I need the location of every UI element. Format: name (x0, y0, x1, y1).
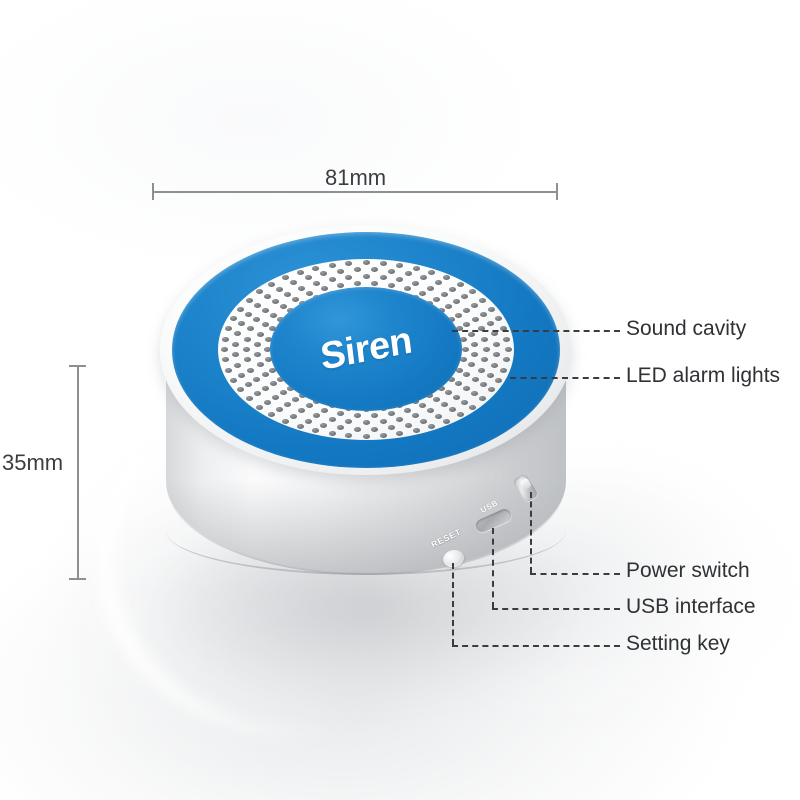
perforation-dot (320, 271, 327, 276)
perforation-dot (290, 280, 297, 285)
perforation-dot (491, 363, 498, 368)
perforation-dot (276, 407, 283, 412)
perforation-dot (245, 382, 252, 387)
perforation-dot (329, 263, 336, 268)
callout-label-sound-cavity: Sound cavity (626, 317, 746, 341)
dimension-label-width: 81mm (325, 165, 386, 191)
perforation-dot (371, 413, 378, 418)
perforation-dot (234, 363, 241, 368)
perforation-dot (396, 417, 403, 422)
perforation-dot (268, 412, 275, 417)
perforation-dot (244, 357, 251, 362)
perforation-dot (247, 326, 254, 331)
perforation-dot (329, 277, 336, 282)
perforation-dot (488, 387, 495, 392)
perforation-dot (371, 427, 378, 432)
perforation-dot (306, 403, 313, 408)
perforation-dot (270, 381, 277, 386)
perforation-dot (388, 411, 395, 416)
perforation-dot (305, 275, 312, 280)
callout-label-led-alarm-lights: LED alarm lights (626, 364, 780, 388)
perforation-dot (420, 419, 427, 424)
perforation-dot (479, 396, 486, 401)
perforation-dot (480, 312, 487, 317)
perforation-dot (404, 408, 411, 413)
perforation-dot (419, 291, 426, 296)
perforation-dot (230, 316, 237, 321)
perforation-dot (345, 275, 352, 280)
perforation-dot (312, 428, 319, 433)
perforation-dot (313, 281, 320, 286)
perforation-dot (428, 270, 435, 275)
perforation-dot (461, 294, 468, 299)
perforation-dot (337, 283, 344, 288)
leader-line-led-alarm-lights (510, 377, 620, 379)
perforation-dot (469, 289, 476, 294)
perforation-dot (449, 407, 456, 412)
perforation-dot (354, 413, 361, 418)
perforation-dot (460, 357, 467, 362)
perforation-dot (345, 419, 352, 424)
perforation-dot (238, 373, 245, 378)
perforation-dot (305, 419, 312, 424)
device-bottom-rim (166, 487, 566, 575)
perforation-dot (234, 331, 241, 336)
perforation-dot (262, 308, 269, 313)
perforation-dot (243, 347, 250, 352)
perforation-dot (268, 282, 275, 287)
perforation-dot (435, 280, 442, 285)
perforation-dot (483, 347, 490, 352)
perforation-dot (246, 396, 253, 401)
perforation-dot (371, 281, 378, 286)
perforation-dot (472, 317, 479, 322)
perforation-dot (457, 412, 464, 417)
perforation-dot (412, 413, 419, 418)
perforation-dot (312, 266, 319, 271)
dimension-line-width (152, 191, 558, 193)
perforation-dot (435, 414, 442, 419)
perforation-dot (371, 267, 378, 272)
perforation-dot (449, 287, 456, 292)
perforation-dot (298, 408, 305, 413)
perforation-dot (237, 387, 244, 392)
perforation-dot (405, 423, 412, 428)
perforation-dot (380, 275, 387, 280)
perforation-dot (354, 281, 361, 286)
dimension-line-height (77, 365, 79, 580)
perforation-dot (405, 271, 412, 276)
perforation-dot (388, 283, 395, 288)
perforation-dot (481, 357, 488, 362)
perforation-dot (253, 377, 260, 382)
perforation-dot (441, 402, 448, 407)
leader-line-setting-key-horizontal (452, 645, 620, 647)
perforation-dot (493, 342, 500, 347)
perforation-dot (488, 307, 495, 312)
perforation-dot (237, 307, 244, 312)
perforation-dot (292, 397, 299, 402)
perforation-dot (264, 400, 271, 405)
perforation-dot (463, 372, 470, 377)
perforation-dot (419, 403, 426, 408)
perforation-dot (487, 373, 494, 378)
dimension-cap-width-right (556, 183, 558, 200)
leader-line-power-switch-horizontal (530, 573, 620, 575)
perforation-dot (478, 368, 485, 373)
perforation-dot (453, 299, 460, 304)
perforation-dot (292, 297, 299, 302)
perforation-dot (469, 405, 476, 410)
perforation-dot (453, 395, 460, 400)
perforation-dot (427, 286, 434, 291)
leader-line-setting-key-vertical (452, 563, 454, 645)
perforation-dot (337, 269, 344, 274)
perforation-dot (329, 431, 336, 436)
perforation-dot (462, 347, 469, 352)
perforation-dot (254, 303, 261, 308)
perforation-dot (257, 332, 264, 337)
perforation-dot (404, 286, 411, 291)
perforation-dot (481, 337, 488, 342)
perforation-dot (225, 368, 232, 373)
perforation-dot (443, 275, 450, 280)
product-diagram-canvas: 81mm 35mm Siren RESET USB Sound cavity L… (0, 0, 800, 800)
perforation-dot (363, 260, 370, 265)
perforation-dot (262, 386, 269, 391)
perforation-dot (284, 402, 291, 407)
perforation-dot (433, 397, 440, 402)
perforation-dot (345, 433, 352, 438)
perforation-dot (345, 261, 352, 266)
perforation-dot (471, 352, 478, 357)
perforation-dot (272, 299, 279, 304)
perforation-dot (455, 381, 462, 386)
perforation-dot (445, 390, 452, 395)
perforation-dot (253, 317, 260, 322)
perforation-dot (276, 287, 283, 292)
perforation-dot (262, 372, 269, 377)
perforation-dot (463, 322, 470, 327)
perforation-dot (337, 411, 344, 416)
perforation-dot (413, 428, 420, 433)
perforation-dot (503, 357, 510, 362)
dimension-label-height: 35mm (2, 450, 63, 476)
perforation-dot (222, 337, 229, 342)
perforation-dot (505, 347, 512, 352)
perforation-dot (354, 427, 361, 432)
perforation-dot (472, 377, 479, 382)
perforation-dot (396, 263, 403, 268)
perforation-dot (445, 304, 452, 309)
perforation-dot (463, 308, 470, 313)
perforation-dot (256, 405, 263, 410)
perforation-dot (244, 337, 251, 342)
perforation-dot (297, 424, 304, 429)
perforation-dot (264, 294, 271, 299)
perforation-dot (455, 313, 462, 318)
perforation-dot (441, 292, 448, 297)
perforation-dot (257, 362, 264, 367)
perforation-dot (354, 267, 361, 272)
perforation-dot (380, 261, 387, 266)
perforation-dot (427, 408, 434, 413)
perforation-dot (254, 391, 261, 396)
perforation-dot (272, 395, 279, 400)
perforation-dot (363, 420, 370, 425)
perforation-dot (254, 342, 261, 347)
perforation-dot (412, 281, 419, 286)
perforation-dot (284, 292, 291, 297)
perforation-dot (380, 419, 387, 424)
perforation-dot (503, 337, 510, 342)
perforation-dot (388, 269, 395, 274)
perforation-dot (221, 347, 228, 352)
perforation-dot (290, 414, 297, 419)
perforation-dot (443, 419, 450, 424)
perforation-dot (468, 332, 475, 337)
perforation-dot (238, 321, 245, 326)
perforation-dot (457, 282, 464, 287)
perforation-dot (337, 425, 344, 430)
perforation-dot (471, 342, 478, 347)
brand-text: Siren (318, 319, 414, 379)
perforation-dot (463, 386, 470, 391)
perforation-dot (254, 352, 261, 357)
perforation-dot (471, 303, 478, 308)
perforation-dot (280, 304, 287, 309)
perforation-dot (282, 419, 289, 424)
perforation-dot (225, 326, 232, 331)
leader-line-usb-interface-horizontal (492, 608, 620, 610)
perforation-dot (461, 400, 468, 405)
perforation-dot (280, 390, 287, 395)
perforation-dot (306, 291, 313, 296)
perforation-dot (320, 423, 327, 428)
perforation-dot (256, 289, 263, 294)
perforation-dot (232, 352, 239, 357)
callout-label-power-switch: Power switch (626, 559, 750, 583)
leader-line-sound-cavity (452, 330, 620, 332)
perforation-dot (297, 270, 304, 275)
perforation-dot (232, 342, 239, 347)
leader-line-usb-interface-vertical (492, 528, 494, 608)
dimension-cap-height-bottom (69, 578, 86, 580)
perforation-dot (321, 286, 328, 291)
perforation-dot (428, 424, 435, 429)
perforation-dot (396, 431, 403, 436)
perforation-dot (313, 413, 320, 418)
callout-label-usb-interface: USB interface (626, 595, 756, 619)
perforation-dot (420, 275, 427, 280)
perforation-dot (380, 433, 387, 438)
perforation-dot (246, 298, 253, 303)
perforation-dot (396, 277, 403, 282)
perforation-dot (363, 274, 370, 279)
perforation-dot (230, 378, 237, 383)
perforation-dot (495, 316, 502, 321)
perforation-dot (413, 266, 420, 271)
perforation-dot (500, 368, 507, 373)
perforation-dot (262, 322, 269, 327)
perforation-dot (479, 298, 486, 303)
perforation-dot (282, 275, 289, 280)
perforation-dot (247, 368, 254, 373)
perforation-dot (491, 331, 498, 336)
perforation-dot (245, 312, 252, 317)
callout-label-setting-key: Setting key (626, 632, 730, 656)
device-center-disc: Siren (270, 287, 462, 411)
perforation-dot (480, 382, 487, 387)
perforation-dot (298, 286, 305, 291)
dimension-cap-height-top (69, 365, 86, 367)
perforation-dot (495, 378, 502, 383)
perforation-dot (468, 362, 475, 367)
perforation-dot (471, 391, 478, 396)
siren-device: Siren RESET USB (160, 225, 572, 615)
perforation-dot (222, 357, 229, 362)
perforation-dot (329, 417, 336, 422)
leader-line-power-switch-vertical (530, 492, 532, 573)
dimension-cap-width-left (152, 183, 154, 200)
perforation-dot (270, 313, 277, 318)
perforation-dot (487, 321, 494, 326)
perforation-dot (363, 434, 370, 439)
perforation-dot (433, 297, 440, 302)
perforation-dot (321, 408, 328, 413)
perforation-dot (388, 425, 395, 430)
perforation-dot (493, 352, 500, 357)
